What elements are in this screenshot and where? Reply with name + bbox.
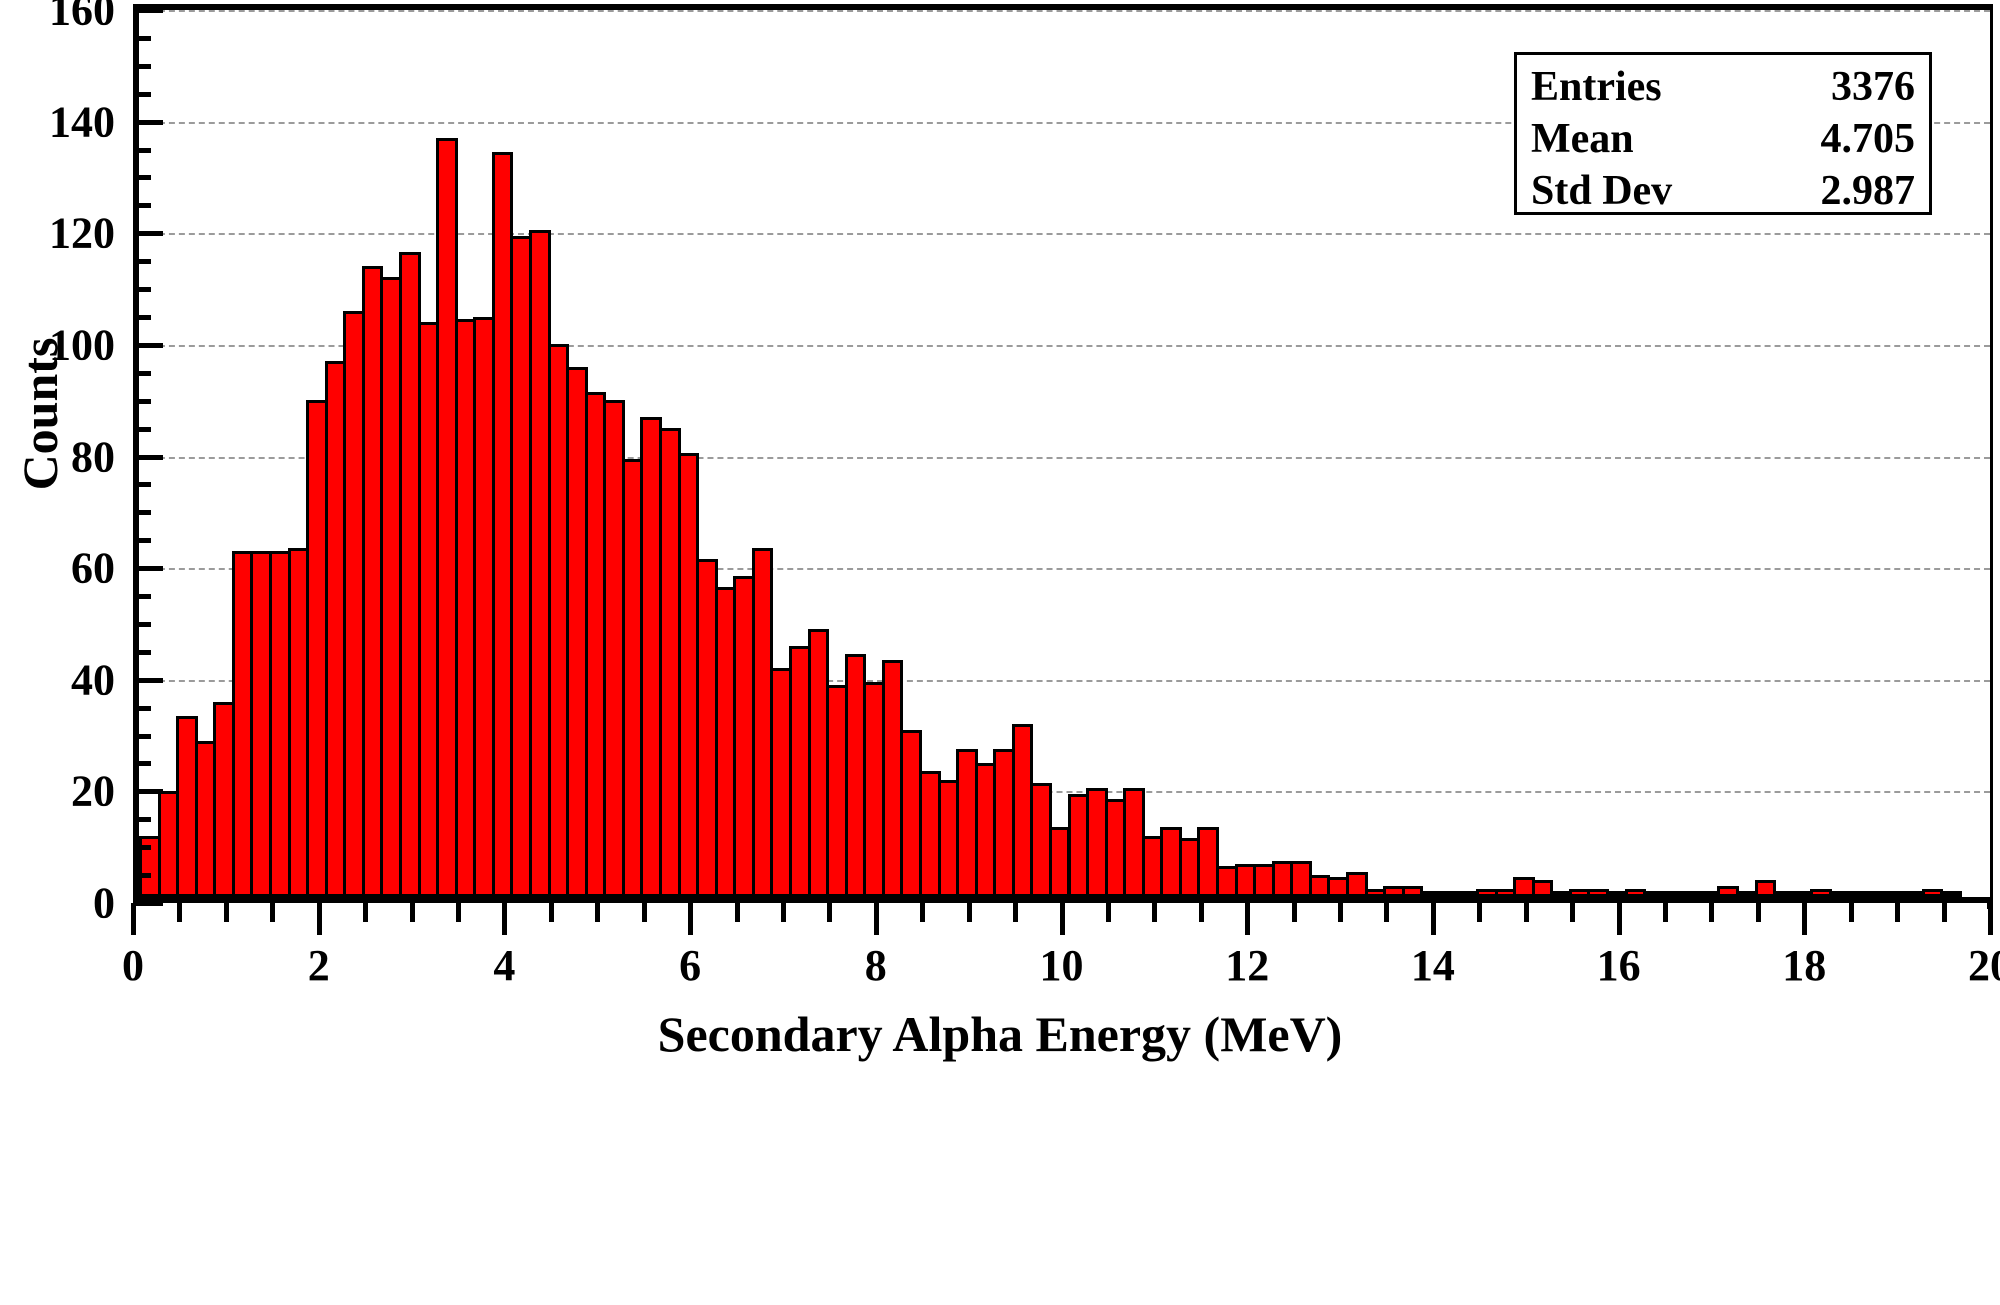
x-tick-bottom: [456, 903, 461, 922]
x-tick-bottom: [270, 903, 275, 922]
x-tick-bottom: [1060, 903, 1065, 935]
y-tick-left: [133, 287, 151, 292]
x-tick-bottom: [1617, 903, 1622, 935]
y-tick-left: [133, 64, 151, 69]
y-tick-left: [133, 148, 151, 153]
x-tick-bottom: [363, 903, 368, 922]
y-tick-left: [133, 259, 151, 264]
statistics-box: Entries 3376 Mean 4.705 Std Dev 2.987: [1514, 52, 1932, 215]
x-tick-bottom: [224, 903, 229, 922]
x-tick-bottom: [1431, 903, 1436, 935]
x-tick-bottom: [1384, 903, 1389, 922]
y-tick-label: 120: [0, 208, 115, 259]
x-tick-bottom: [1709, 903, 1714, 922]
x-tick-bottom: [874, 903, 879, 935]
y-tick-left: [133, 678, 163, 683]
x-tick-top: [0, 286, 5, 305]
x-tick-bottom: [1988, 903, 1993, 935]
y-tick-left: [133, 734, 151, 739]
x-tick-top: [0, 928, 5, 947]
y-tick-label: 160: [0, 0, 115, 36]
x-tick-bottom: [920, 903, 925, 922]
x-tick-label: 10: [1002, 940, 1122, 991]
x-tick-bottom: [1338, 903, 1343, 922]
x-tick-top: [0, 591, 5, 610]
y-tick-left: [133, 761, 151, 766]
x-tick-top: [0, 502, 5, 521]
x-tick-bottom: [642, 903, 647, 922]
y-tick-left: [133, 371, 151, 376]
x-tick-top: [0, 394, 5, 413]
x-tick-bottom: [317, 903, 322, 935]
x-tick-bottom: [1849, 903, 1854, 922]
x-tick-bottom: [595, 903, 600, 922]
stats-mean-value: 4.705: [1821, 113, 1916, 165]
x-tick-bottom: [781, 903, 786, 922]
y-tick-left: [133, 845, 151, 850]
x-tick-bottom: [549, 903, 554, 922]
x-tick-top: [0, 858, 5, 877]
x-tick-bottom: [410, 903, 415, 922]
stats-stddev-value: 2.987: [1821, 165, 1916, 217]
x-tick-bottom: [1524, 903, 1529, 922]
histogram-figure: 020406080100120140160 02468101214161820 …: [0, 0, 2000, 1305]
y-tick-label: 40: [0, 654, 115, 705]
x-tick-top: [0, 610, 5, 642]
stats-row-stddev: Std Dev 2.987: [1531, 165, 1915, 217]
x-tick-top: [0, 947, 5, 966]
y-tick-left: [133, 343, 163, 348]
y-tick-left: [133, 120, 163, 125]
histogram-bar: [1940, 891, 1962, 897]
y-tick-left: [133, 622, 151, 627]
x-tick-bottom: [502, 903, 507, 935]
y-tick-left: [133, 566, 163, 571]
x-tick-bottom: [1152, 903, 1157, 922]
x-tick-top: [0, 966, 5, 998]
stats-mean-label: Mean: [1531, 113, 1634, 165]
y-tick-left: [133, 175, 151, 180]
y-tick-label: 20: [0, 766, 115, 817]
y-tick-left: [133, 399, 151, 404]
y-tick-left: [133, 8, 163, 13]
y-tick-left: [133, 36, 151, 41]
stats-entries-label: Entries: [1531, 61, 1662, 113]
x-tick-bottom: [1570, 903, 1575, 922]
x-tick-label: 14: [1373, 940, 1493, 991]
y-tick-left: [133, 92, 151, 97]
x-axis-title: Secondary Alpha Energy (MeV): [0, 1005, 2000, 1063]
x-tick-bottom: [967, 903, 972, 922]
x-tick-label: 6: [630, 940, 750, 991]
x-tick-bottom: [1477, 903, 1482, 922]
x-tick-label: 20: [1930, 940, 2000, 991]
y-tick-left: [133, 650, 151, 655]
x-tick-label: 8: [816, 940, 936, 991]
x-tick-bottom: [1663, 903, 1668, 922]
y-tick-left: [133, 203, 151, 208]
x-tick-bottom: [1199, 903, 1204, 922]
y-axis-title: Counts: [11, 254, 69, 574]
y-tick-left: [133, 789, 163, 794]
stats-entries-value: 3376: [1831, 61, 1915, 113]
x-tick-bottom: [1756, 903, 1761, 922]
stats-row-mean: Mean 4.705: [1531, 113, 1915, 165]
x-tick-bottom: [1292, 903, 1297, 922]
x-tick-bottom: [1895, 903, 1900, 922]
y-tick-left: [133, 538, 151, 543]
x-tick-label: 4: [444, 940, 564, 991]
x-tick-bottom: [1245, 903, 1250, 935]
x-tick-top: [0, 483, 5, 502]
x-tick-bottom: [1942, 903, 1947, 922]
x-tick-top: [0, 731, 5, 750]
y-tick-left: [133, 231, 163, 236]
x-tick-top: [0, 375, 5, 394]
y-tick-left: [133, 315, 151, 320]
x-tick-bottom: [1106, 903, 1111, 922]
x-tick-label: 12: [1187, 940, 1307, 991]
x-tick-bottom: [688, 903, 693, 935]
y-tick-left: [133, 706, 151, 711]
x-tick-label: 18: [1744, 940, 1864, 991]
y-tick-left: [133, 455, 163, 460]
y-tick-label: 140: [0, 96, 115, 147]
x-tick-label: 2: [259, 940, 379, 991]
x-tick-bottom: [1013, 903, 1018, 922]
y-tick-left: [133, 873, 151, 878]
x-tick-top: [0, 254, 5, 286]
y-tick-left: [133, 594, 151, 599]
y-tick-left: [133, 817, 151, 822]
y-tick-left: [133, 901, 163, 906]
x-tick-top: [0, 165, 5, 197]
x-tick-bottom: [827, 903, 832, 922]
y-tick-label: 0: [0, 878, 115, 929]
x-tick-label: 16: [1559, 940, 1679, 991]
x-tick-bottom: [177, 903, 182, 922]
x-tick-top: [0, 839, 5, 858]
x-tick-top: [0, 413, 5, 432]
y-tick-left: [133, 510, 151, 515]
stats-stddev-label: Std Dev: [1531, 165, 1672, 217]
x-tick-bottom: [735, 903, 740, 922]
x-tick-bottom: [1802, 903, 1807, 935]
y-tick-left: [133, 482, 151, 487]
y-tick-left: [133, 427, 151, 432]
x-tick-label: 0: [73, 940, 193, 991]
x-tick-top: [0, 820, 5, 839]
x-tick-bottom: [131, 903, 136, 935]
stats-row-entries: Entries 3376: [1531, 61, 1915, 113]
